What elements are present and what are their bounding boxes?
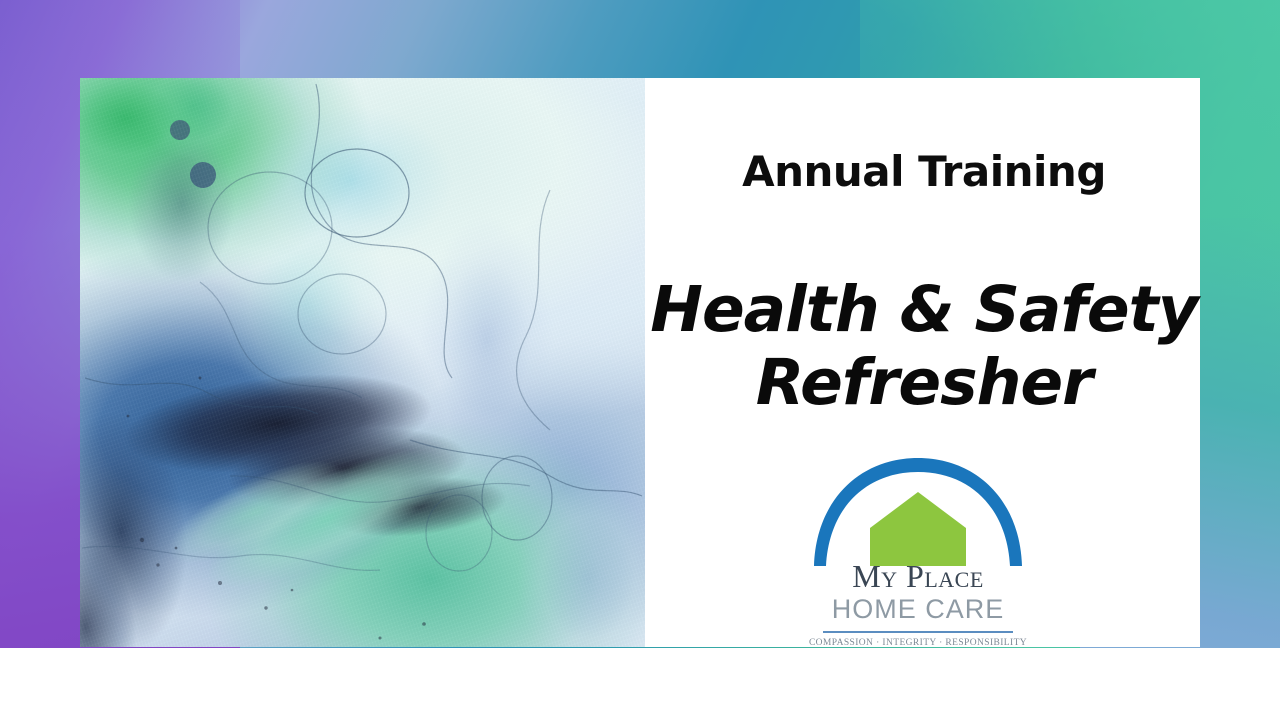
logo-divider-rule [823,631,1013,633]
logo-tagline: COMPASSION · INTEGRITY · RESPONSIBILITY [808,638,1028,648]
slide-subtitle-line-1: Health & Safety [648,273,1200,346]
abstract-ink-artwork-image [80,78,645,647]
artwork-paper-grain [80,78,645,647]
slide-subtitle-line-2: Refresher [648,346,1200,419]
slide-root: Annual Training Health & Safety Refreshe… [0,0,1280,720]
slide-subtitle: Health & Safety Refresher [648,273,1200,419]
logo-brand-line-1: My Place [808,560,1028,592]
logo-wordmark: My Place HOME CARE COMPASSION · INTEGRIT… [808,560,1028,648]
company-logo: My Place HOME CARE COMPASSION · INTEGRIT… [808,448,1028,648]
logo-mark [808,448,1028,566]
slide-text-column: Annual Training Health & Safety Refreshe… [648,78,1200,647]
logo-house-shape [870,492,966,566]
slide-title: Annual Training [648,151,1200,193]
logo-brand-line-2: HOME CARE [808,594,1028,625]
